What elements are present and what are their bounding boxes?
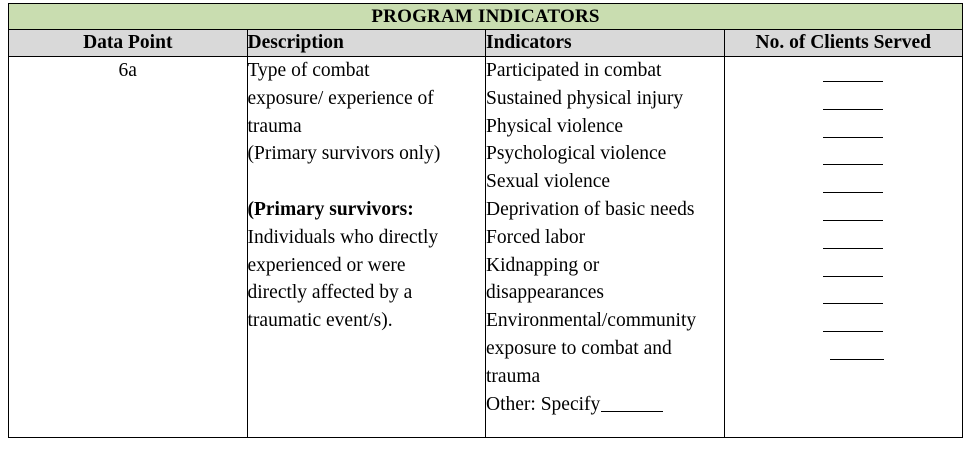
cell-indicators: Participated in combat Sustained physica… <box>486 57 725 438</box>
indicator-line: Sexual violence <box>486 168 724 196</box>
table-title-row: PROGRAM INDICATORS <box>9 4 963 30</box>
table-header-row: Data Point Description Indicators No. of… <box>9 30 963 57</box>
indicator-line: Environmental/community <box>486 307 724 335</box>
description-line: trauma <box>248 113 486 141</box>
description-spacer <box>248 168 486 196</box>
description-line: directly affected by a <box>248 279 486 307</box>
table-title: PROGRAM INDICATORS <box>9 4 963 30</box>
indicator-line: trauma <box>486 363 724 391</box>
indicator-line: Deprivation of basic needs <box>486 196 724 224</box>
clients-blank-field[interactable] <box>725 69 963 97</box>
column-header-data-point: Data Point <box>9 30 248 57</box>
cell-clients-served <box>724 57 963 438</box>
column-header-indicators: Indicators <box>486 30 725 57</box>
document-page: PROGRAM INDICATORS Data Point Descriptio… <box>0 0 971 457</box>
description-line: experienced or were <box>248 252 486 280</box>
indicator-line: Physical violence <box>486 113 724 141</box>
table-row: 6a Type of combat exposure/ experience o… <box>9 57 963 438</box>
description-line: exposure/ experience of <box>248 85 486 113</box>
indicator-line: disappearances <box>486 279 724 307</box>
clients-blank-field[interactable] <box>725 319 963 347</box>
cell-data-point: 6a <box>9 57 248 438</box>
clients-blank-field[interactable] <box>725 291 963 319</box>
description-line: Individuals who directly <box>248 224 486 252</box>
indicator-line: Forced labor <box>486 224 724 252</box>
program-indicators-table: PROGRAM INDICATORS Data Point Descriptio… <box>8 3 963 438</box>
clients-blank-field[interactable] <box>725 97 963 125</box>
description-line: traumatic event/s). <box>248 307 486 335</box>
indicator-line: Participated in combat <box>486 57 724 85</box>
column-header-description: Description <box>247 30 486 57</box>
indicator-line: Kidnapping or <box>486 252 724 280</box>
clients-blank-field[interactable] <box>725 125 963 153</box>
indicator-other-row: Other: Specify <box>486 391 724 419</box>
clients-blank-field[interactable] <box>725 236 963 264</box>
clients-blank-lines <box>725 69 963 375</box>
column-header-clients-served: No. of Clients Served <box>724 30 963 57</box>
clients-blank-field[interactable] <box>725 152 963 180</box>
clients-blank-field[interactable] <box>725 180 963 208</box>
indicator-line: Sustained physical injury <box>486 85 724 113</box>
clients-blank-field[interactable] <box>725 264 963 292</box>
cell-description: Type of combat exposure/ experience of t… <box>247 57 486 438</box>
description-line: (Primary survivors only) <box>248 140 486 168</box>
clients-blank-field[interactable] <box>725 347 963 375</box>
description-bold-lead: (Primary survivors: <box>248 196 486 224</box>
indicator-other-blank-field[interactable] <box>601 395 663 412</box>
description-line: Type of combat <box>248 57 486 85</box>
indicator-line: Psychological violence <box>486 140 724 168</box>
indicator-line: exposure to combat and <box>486 335 724 363</box>
indicator-other-label: Other: Specify <box>486 394 600 415</box>
clients-blank-field[interactable] <box>725 208 963 236</box>
